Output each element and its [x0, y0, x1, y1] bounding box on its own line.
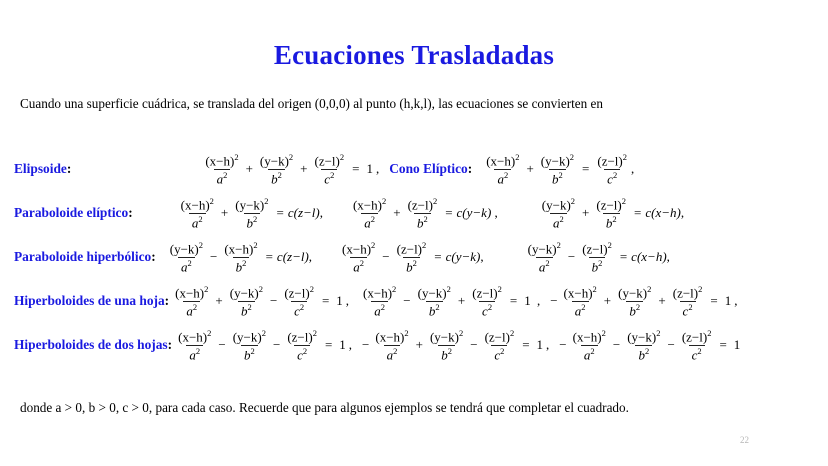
equation-hiperboloides-dos-hojas-2: − (x−h)2 a2 + (y−k)2 b2 − (z−l)2 c2 — [362, 329, 549, 362]
equation-hiperboloides-dos-hojas-3: − (x−h)2 a2 − (y−k)2 b2 − (z−l)2 c2 — [559, 329, 743, 362]
equation-hiperboloides-dos-hojas-1: (x−h)2 a2 − (y−k)2 b2 − (z−l)2 c2 = 1, — [174, 329, 352, 362]
fraction-y-b: (y−k)2 b2 — [538, 153, 577, 186]
fraction-z-c: (z−l)2 c2 — [482, 329, 518, 362]
label-elipsoide: Elipsoide: — [14, 161, 71, 177]
equation-hiperboloides-una-hoja-3: − (x−h)2 a2 + (y−k)2 b2 + (z−l)2 c2 — [550, 285, 737, 318]
fraction-x-a: (x−h)2 a2 — [561, 285, 600, 318]
equation-paraboloide-hiperbolico-3: (y−k)2 a2 − (z−l)2 b2 = c(x−h), — [524, 241, 670, 274]
fraction-z-b: (z−l)2 b2 — [593, 197, 629, 230]
page-title: Ecuaciones Trasladadas — [0, 40, 828, 71]
equation-paraboloide-eliptico-2: (x−h)2 a2 + (z−l)2 b2 = c(y−k) , — [349, 197, 498, 230]
equations-paraboloide-eliptico: (x−h)2 a2 + (y−k)2 b2 = c(z−l), (x−h)2 — [177, 197, 826, 230]
equation-paraboloide-eliptico-3: (y−k)2 a2 + (z−l)2 b2 = c(x−h), — [538, 197, 684, 230]
fraction-y-b: (y−k)2 b2 — [230, 329, 269, 362]
footer-note: donde a > 0, b > 0, c > 0, para cada cas… — [20, 400, 810, 417]
label-paraboloide-hiperbolico: Paraboloide hiperbólico: — [14, 249, 156, 265]
equation-paraboloide-hiperbolico-2: (x−h)2 a2 − (z−l)2 b2 = c(y−k), — [338, 241, 484, 274]
label-hiperboloides-una-hoja: Hiperboloides de una hoja: — [14, 293, 169, 309]
equations-hiperboloides-dos-hojas: (x−h)2 a2 − (y−k)2 b2 − (z−l)2 c2 = 1, — [174, 329, 826, 362]
fraction-z-c: (z−l)2 c2 — [679, 329, 715, 362]
label-paraboloide-eliptico: Paraboloide elíptico: — [14, 205, 133, 221]
fraction-x-a: (x−h)2 a2 — [175, 329, 214, 362]
fraction-y-a: (y−k)2 a2 — [167, 241, 206, 274]
equations-elipsoide: (x−h)2 a2 + (y−k)2 b2 + (z−l)2 c2 = 1, — [201, 153, 826, 186]
fraction-z-c: (z−l)2 c2 — [594, 153, 630, 186]
fraction-y-b: (y−k)2 b2 — [624, 329, 663, 362]
equation-paraboloide-eliptico-1: (x−h)2 a2 + (y−k)2 b2 = c(z−l), — [177, 197, 323, 230]
fraction-z-b: (z−l)2 b2 — [405, 197, 441, 230]
fraction-x-a: (x−h)2 a2 — [350, 197, 389, 230]
fraction-z-c: (z−l)2 c2 — [281, 285, 317, 318]
equation-hiperboloides-una-hoja-2: (x−h)2 a2 − (y−k)2 b2 + (z−l)2 c2 = 1 — [359, 285, 540, 318]
equation-row-paraboloide-eliptico: Paraboloide elíptico: (x−h)2 a2 + (y−k)2… — [14, 194, 826, 232]
fraction-x-a: (x−h)2 a2 — [570, 329, 609, 362]
slide-canvas: Ecuaciones Trasladadas Cuando una superf… — [0, 0, 828, 466]
fraction-y-b: (y−k)2 b2 — [615, 285, 654, 318]
fraction-y-b: (y−k)2 b2 — [415, 285, 454, 318]
fraction-z-c: (z−l)2 c2 — [312, 153, 348, 186]
fraction-z-c: (z−l)2 c2 — [284, 329, 320, 362]
equation-row-elipsoide: Elipsoide: (x−h)2 a2 + (y−k)2 b2 + (z−l)… — [14, 150, 826, 188]
fraction-x-a: (x−h)2 a2 — [372, 329, 411, 362]
intro-text: Cuando una superficie cuádrica, se trans… — [20, 96, 810, 113]
fraction-y-a: (y−k)2 a2 — [539, 197, 578, 230]
equation-hiperboloides-una-hoja-1: (x−h)2 a2 + (y−k)2 b2 − (z−l)2 c2 = 1, — [171, 285, 349, 318]
fraction-x-a: (x−h)2 a2 — [339, 241, 378, 274]
fraction-y-b: (y−k)2 b2 — [257, 153, 296, 186]
fraction-x-a: (x−h)2 a2 — [178, 197, 217, 230]
fraction-x-b: (x−h)2 b2 — [221, 241, 260, 274]
equations-paraboloide-hiperbolico: (y−k)2 a2 − (x−h)2 b2 = c(z−l), (x−h)2 — [166, 241, 826, 274]
label-hiperboloides-dos-hojas: Hiperboloides de dos hojas: — [14, 337, 172, 353]
label-cono-eliptico: Cono Elíptico: — [389, 161, 472, 177]
fraction-x-a: (x−h)2 a2 — [172, 285, 211, 318]
page-number: 22 — [740, 435, 749, 445]
equations-hiperboloides-una-hoja: (x−h)2 a2 + (y−k)2 b2 − (z−l)2 c2 = 1, — [171, 285, 826, 318]
equation-cono-eliptico: (x−h)2 a2 + (y−k)2 b2 = (z−l)2 c2 , — [482, 153, 634, 186]
equation-paraboloide-hiperbolico-1: (y−k)2 a2 − (x−h)2 b2 = c(z−l), — [166, 241, 312, 274]
fraction-z-b: (z−l)2 b2 — [579, 241, 615, 274]
fraction-z-b: (z−l)2 b2 — [394, 241, 430, 274]
equation-row-paraboloide-hiperbolico: Paraboloide hiperbólico: (y−k)2 a2 − (x−… — [14, 238, 826, 276]
fraction-x-a: (x−h)2 a2 — [483, 153, 522, 186]
equations-block: Elipsoide: (x−h)2 a2 + (y−k)2 b2 + (z−l)… — [14, 150, 826, 370]
equation-row-hiperboloides-una-hoja: Hiperboloides de una hoja: (x−h)2 a2 + (… — [14, 282, 826, 320]
fraction-y-a: (y−k)2 a2 — [525, 241, 564, 274]
fraction-y-b: (y−k)2 b2 — [232, 197, 271, 230]
fraction-x-a: (x−h)2 a2 — [360, 285, 399, 318]
fraction-z-c: (z−l)2 c2 — [469, 285, 505, 318]
fraction-y-b: (y−k)2 b2 — [227, 285, 266, 318]
equation-elipsoide: (x−h)2 a2 + (y−k)2 b2 + (z−l)2 c2 = 1, — [201, 153, 379, 186]
fraction-y-b: (y−k)2 b2 — [427, 329, 466, 362]
fraction-x-a: (x−h)2 a2 — [202, 153, 241, 186]
equation-row-hiperboloides-dos-hojas: Hiperboloides de dos hojas: (x−h)2 a2 − … — [14, 326, 826, 364]
fraction-z-c: (z−l)2 c2 — [670, 285, 706, 318]
